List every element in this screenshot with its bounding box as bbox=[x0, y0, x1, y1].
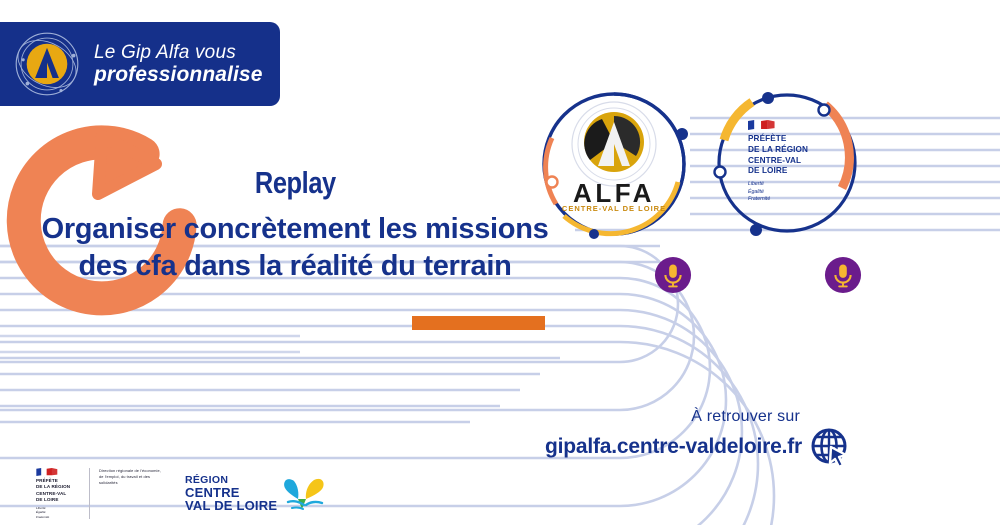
region-wordmark: RÉGION CENTRE VAL DE LOIRE bbox=[185, 475, 277, 512]
prefecture-emblem: PRÉFÈTE DE LA RÉGION CENTRE-VAL DE LOIRE… bbox=[748, 120, 834, 204]
page-title: Organiser concrètement les missions des … bbox=[30, 211, 560, 285]
region-line-2: CENTRE bbox=[185, 486, 277, 499]
rf-emblem: PRÉFÈTE DE LA RÉGION CENTRE-VAL DE LOIRE… bbox=[36, 468, 80, 519]
prefecture-title-line-3: CENTRE-VAL bbox=[748, 156, 834, 167]
footer-divider bbox=[89, 468, 90, 519]
rf-title: PRÉFÈTE DE LA RÉGION CENTRE-VAL DE LOIRE bbox=[36, 478, 80, 504]
rf-motto: Liberté Égalité Fraternité bbox=[36, 506, 80, 519]
website-url[interactable]: gipalfa.centre-valdeloire.fr bbox=[545, 435, 802, 459]
alfa-logo-circle: ALFA CENTRE-VAL DE LOIRE bbox=[536, 86, 692, 242]
rf-title-line-4: DE LOIRE bbox=[36, 497, 80, 503]
rf-motto-line-3: Fraternité bbox=[36, 515, 80, 519]
replay-kicker: Replay bbox=[255, 165, 336, 201]
poster-canvas: Le Gip Alfa vous professionnalise Replay… bbox=[0, 0, 1000, 525]
region-centre-val-de-loire-logo: RÉGION CENTRE VAL DE LOIRE bbox=[185, 475, 326, 512]
gip-alfa-logo-icon bbox=[12, 29, 82, 99]
website-row: gipalfa.centre-valdeloire.fr bbox=[545, 427, 850, 467]
microphone-icon bbox=[824, 256, 862, 294]
brand-badge: Le Gip Alfa vous professionnalise bbox=[0, 22, 280, 106]
alfa-subtitle: CENTRE-VAL DE LOIRE bbox=[536, 204, 692, 213]
motto-line-1: Liberté bbox=[748, 181, 834, 189]
prefecture-title-line-1: PRÉFÈTE bbox=[748, 134, 834, 145]
prefecture-motto: Liberté Égalité Fraternité bbox=[748, 181, 834, 204]
website-callout: À retrouver sur gipalfa.centre-valdeloir… bbox=[545, 408, 850, 467]
alfa-ring-icon bbox=[536, 86, 692, 242]
prefecture-title: PRÉFÈTE DE LA RÉGION CENTRE-VAL DE LOIRE bbox=[748, 134, 834, 177]
headline-block: Replay Organiser concrètement les missio… bbox=[30, 165, 560, 285]
french-flag-icon bbox=[748, 120, 775, 130]
title-highlight-bar bbox=[412, 316, 545, 330]
prefecture-title-line-2: DE LA RÉGION bbox=[748, 145, 834, 156]
prefecture-logo-circle: PRÉFÈTE DE LA RÉGION CENTRE-VAL DE LOIRE… bbox=[712, 88, 862, 238]
page-title-text: Organiser concrètement les missions des … bbox=[42, 213, 549, 282]
brand-tagline-line2: professionnalise bbox=[94, 63, 262, 87]
region-centre-val-de-loire-mark-icon bbox=[282, 477, 326, 511]
brand-text: Le Gip Alfa vous professionnalise bbox=[94, 42, 262, 87]
republique-francaise-logo: PRÉFÈTE DE LA RÉGION CENTRE-VAL DE LOIRE… bbox=[36, 468, 161, 519]
website-pretext: À retrouver sur bbox=[545, 408, 800, 426]
region-line-3: VAL DE LOIRE bbox=[185, 499, 277, 512]
motto-line-2: Égalité bbox=[748, 189, 834, 197]
motto-line-3: Fraternité bbox=[748, 196, 834, 204]
prefecture-title-line-4: DE LOIRE bbox=[748, 166, 834, 177]
microphone-icon bbox=[654, 256, 692, 294]
french-flag-icon bbox=[36, 468, 58, 476]
globe-cursor-icon[interactable] bbox=[810, 427, 850, 467]
brand-tagline-line1: Le Gip Alfa vous bbox=[94, 42, 262, 63]
footer-logos: PRÉFÈTE DE LA RÉGION CENTRE-VAL DE LOIRE… bbox=[36, 468, 326, 519]
partner-agency-label: Direction régionale de l'économie, de l'… bbox=[99, 468, 161, 486]
